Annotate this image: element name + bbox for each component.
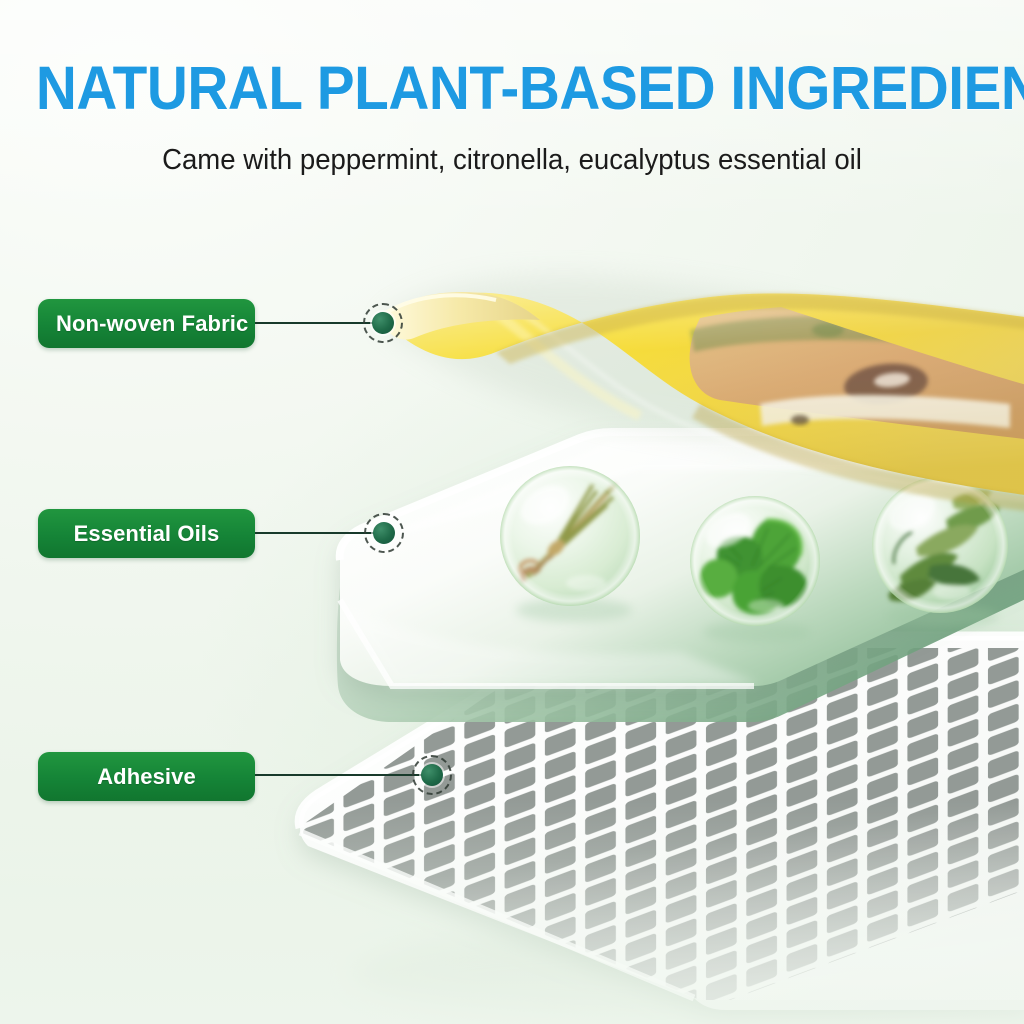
page-title: NATURAL PLANT-BASED INGREDIENTS <box>36 57 988 119</box>
badge-essential-oils[interactable]: Essential Oils <box>38 509 255 558</box>
marker-dot-core <box>421 764 443 786</box>
leader-line-3 <box>255 774 432 776</box>
marker-dot-essential-oils[interactable] <box>364 513 404 553</box>
infographic-canvas: NATURAL PLANT-BASED INGREDIENTS Came wit… <box>0 0 1024 1024</box>
marker-dot-non-woven-fabric[interactable] <box>363 303 403 343</box>
badge-label-essential-oils: Essential Oils <box>74 521 220 547</box>
badge-label-adhesive: Adhesive <box>97 764 196 790</box>
marker-dot-adhesive[interactable] <box>412 755 452 795</box>
badge-adhesive[interactable]: Adhesive <box>38 752 255 801</box>
page-subtitle: Came with peppermint, citronella, eucaly… <box>26 145 999 177</box>
badge-label-non-woven-fabric: Non-woven Fabric <box>56 311 248 337</box>
marker-dot-core <box>373 522 395 544</box>
badge-non-woven-fabric[interactable]: Non-woven Fabric <box>38 299 255 348</box>
marker-dot-core <box>372 312 394 334</box>
